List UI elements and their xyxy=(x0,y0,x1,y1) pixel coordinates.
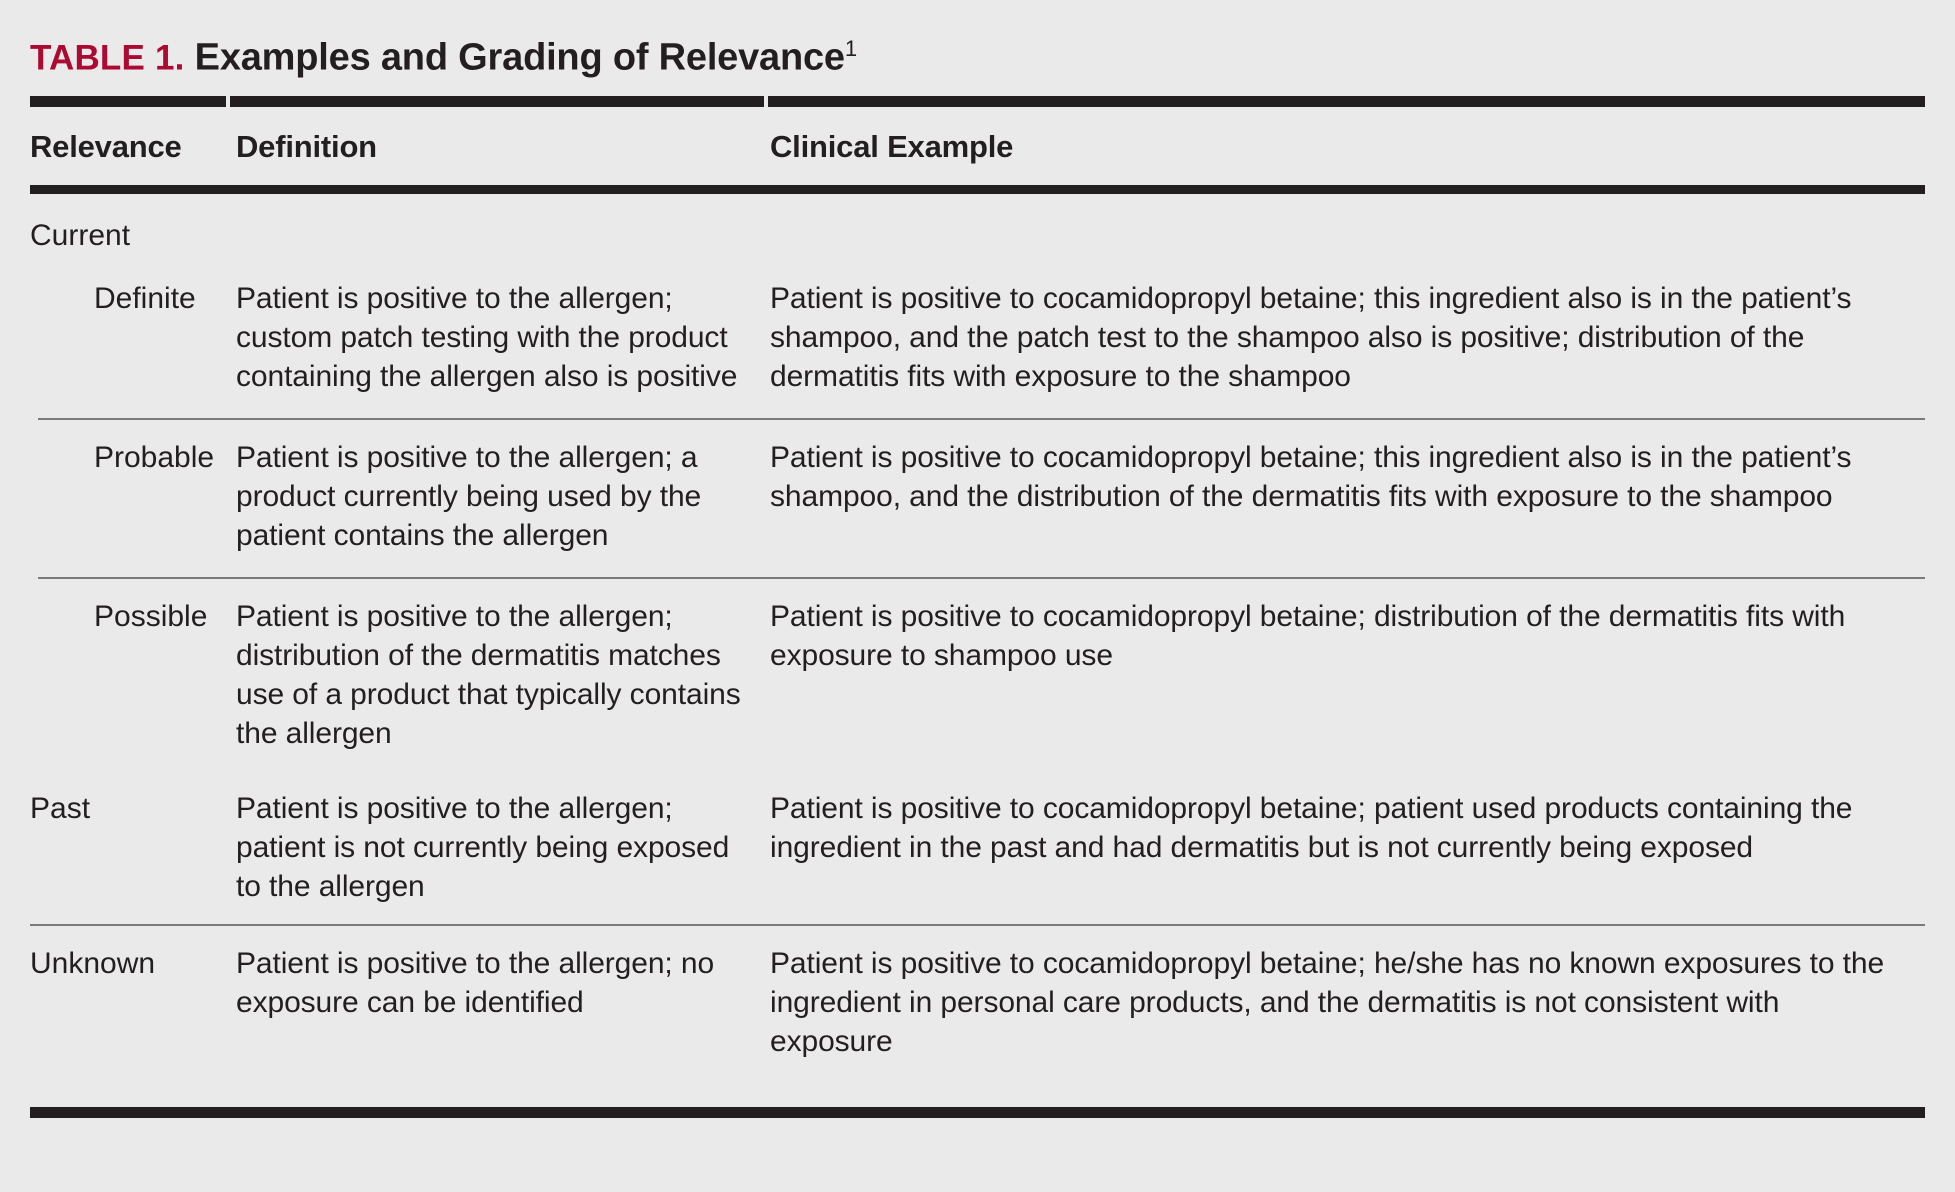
row-definition-definite: Patient is positive to the allergen; cus… xyxy=(226,279,760,396)
table-row: Possible Patient is positive to the alle… xyxy=(30,579,1925,771)
row-example-unknown: Patient is positive to cocamidopropyl be… xyxy=(760,944,1925,1061)
row-definition-unknown: Patient is positive to the allergen; no … xyxy=(226,944,760,1022)
table-figure: TABLE 1. Examples and Grading of Relevan… xyxy=(0,0,1955,1192)
rule-segment-col2 xyxy=(226,185,760,194)
column-header-relevance: Relevance xyxy=(30,129,226,165)
page-title: Examples and Grading of Relevance xyxy=(195,36,845,78)
row-label-probable: Probable xyxy=(30,438,226,477)
rule-segment-col1 xyxy=(30,185,226,194)
row-example-possible: Patient is positive to cocamidopropyl be… xyxy=(760,597,1925,675)
rule-segment-col1 xyxy=(30,1107,226,1118)
table-top-rule xyxy=(30,96,1925,107)
table-row: Past Patient is positive to the allergen… xyxy=(30,771,1925,924)
row-example-probable: Patient is positive to cocamidopropyl be… xyxy=(760,438,1925,516)
table-bottom-rule xyxy=(30,1107,1925,1118)
table-row: Unknown Patient is positive to the aller… xyxy=(30,926,1925,1079)
column-header-definition: Definition xyxy=(226,129,760,165)
row-definition-past: Patient is positive to the allergen; pat… xyxy=(226,789,760,906)
rule-segment-col1 xyxy=(30,96,226,107)
row-label-definite: Definite xyxy=(30,279,226,318)
reference-superscript: 1 xyxy=(845,36,857,61)
rule-segment-col3 xyxy=(760,1107,1925,1118)
table-row: Current xyxy=(30,194,1925,261)
row-definition-possible: Patient is positive to the allergen; dis… xyxy=(226,597,760,753)
table-caption: TABLE 1. Examples and Grading of Relevan… xyxy=(30,0,1925,96)
rule-segment-col2 xyxy=(226,1107,760,1118)
rule-segment-col3 xyxy=(768,96,1925,107)
row-label-unknown: Unknown xyxy=(30,944,226,983)
rule-segment-col3 xyxy=(760,185,1925,194)
row-example-past: Patient is positive to cocamidopropyl be… xyxy=(760,789,1925,867)
row-example-definite: Patient is positive to cocamidopropyl be… xyxy=(760,279,1925,396)
table-number-label: TABLE 1. xyxy=(30,38,185,77)
table-row: Probable Patient is positive to the alle… xyxy=(30,420,1925,577)
column-header-clinical-example: Clinical Example xyxy=(760,129,1925,165)
table-header-row: Relevance Definition Clinical Example xyxy=(30,107,1925,185)
table-row: Definite Patient is positive to the alle… xyxy=(30,261,1925,418)
rule-segment-col2 xyxy=(230,96,764,107)
row-label-past: Past xyxy=(30,789,226,828)
row-label-possible: Possible xyxy=(30,597,226,636)
row-label-current: Current xyxy=(30,216,226,255)
row-definition-probable: Patient is positive to the allergen; a p… xyxy=(226,438,760,555)
table-header-rule xyxy=(30,185,1925,194)
